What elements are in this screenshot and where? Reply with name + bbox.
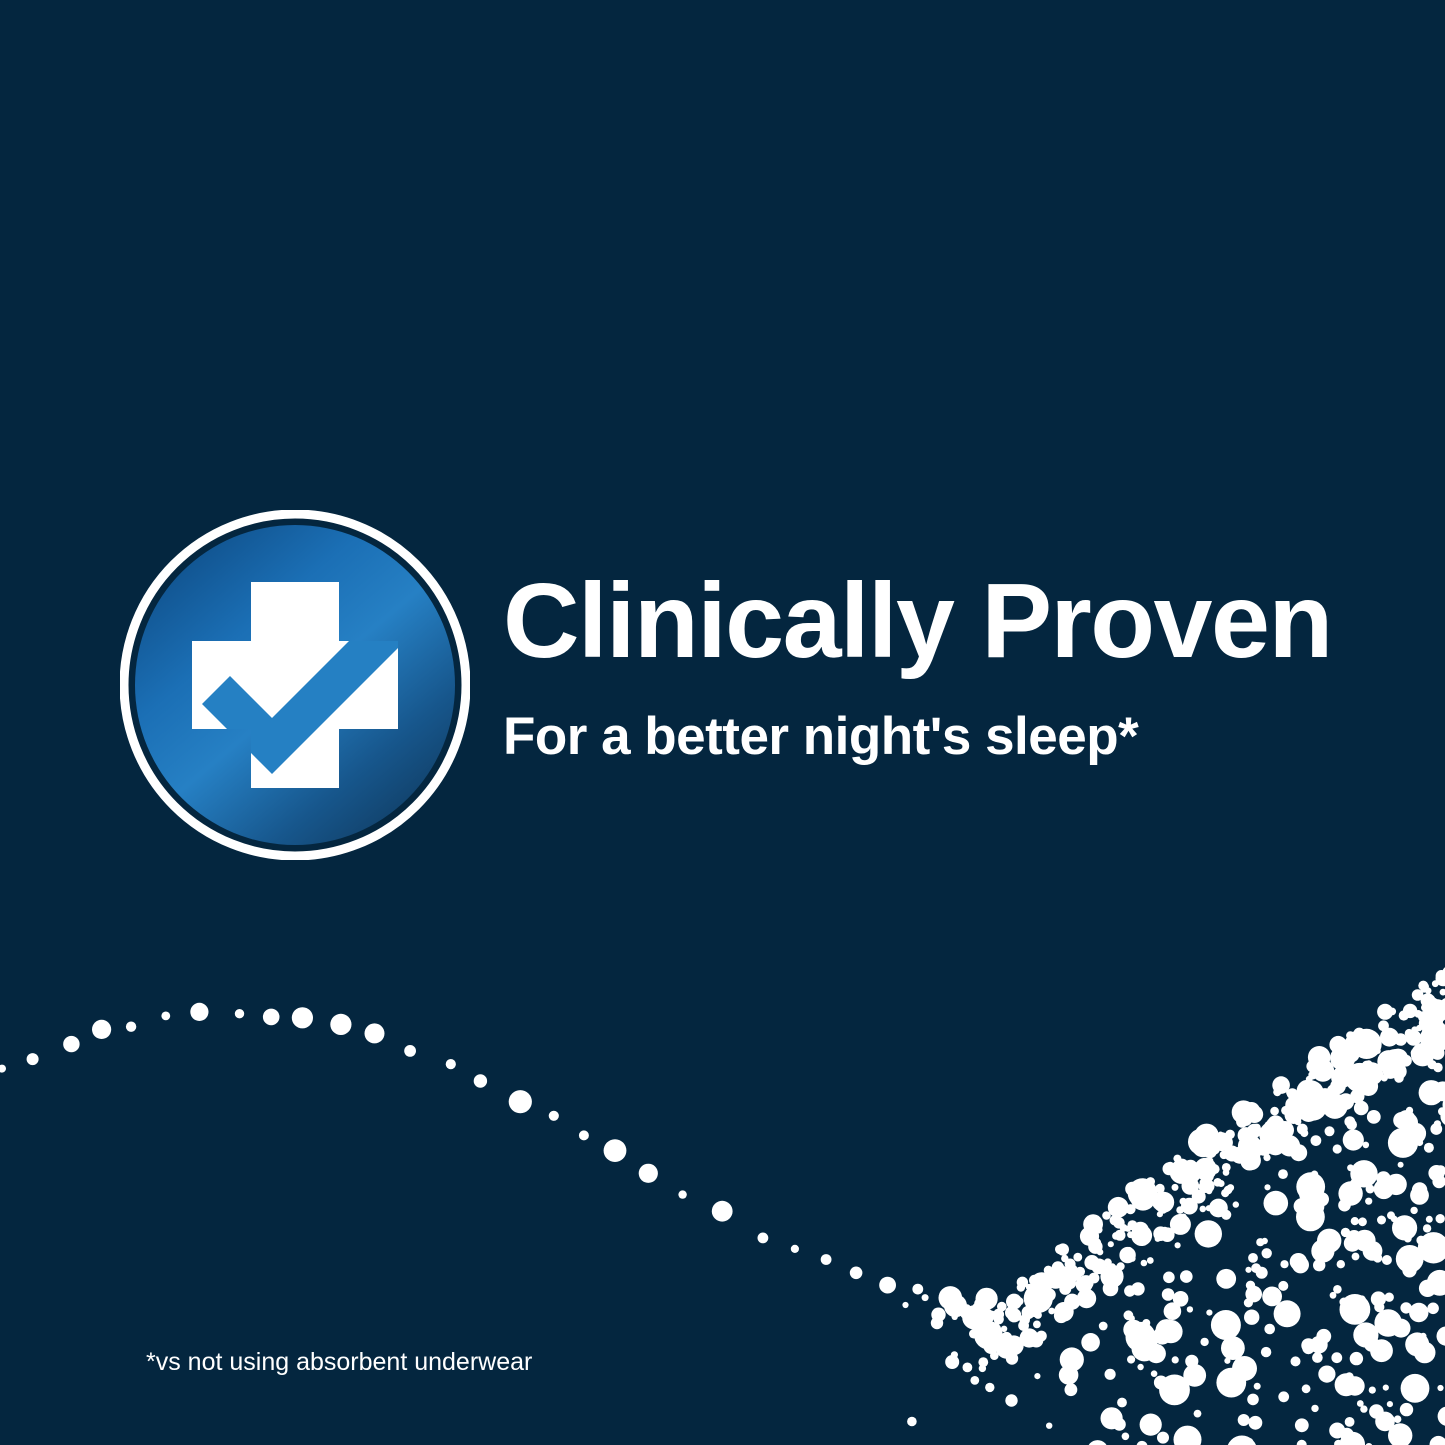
headline-block: Clinically Proven For a better night's s…: [503, 568, 1403, 763]
clinically-proven-badge: [120, 510, 470, 860]
medical-cross-check-badge-icon: [120, 510, 470, 860]
page-title: Clinically Proven: [503, 568, 1403, 674]
promo-banner: Clinically Proven For a better night's s…: [0, 0, 1445, 1445]
footnote-text: *vs not using absorbent underwear: [146, 1348, 532, 1377]
page-subtitle: For a better night's sleep*: [503, 710, 1403, 763]
